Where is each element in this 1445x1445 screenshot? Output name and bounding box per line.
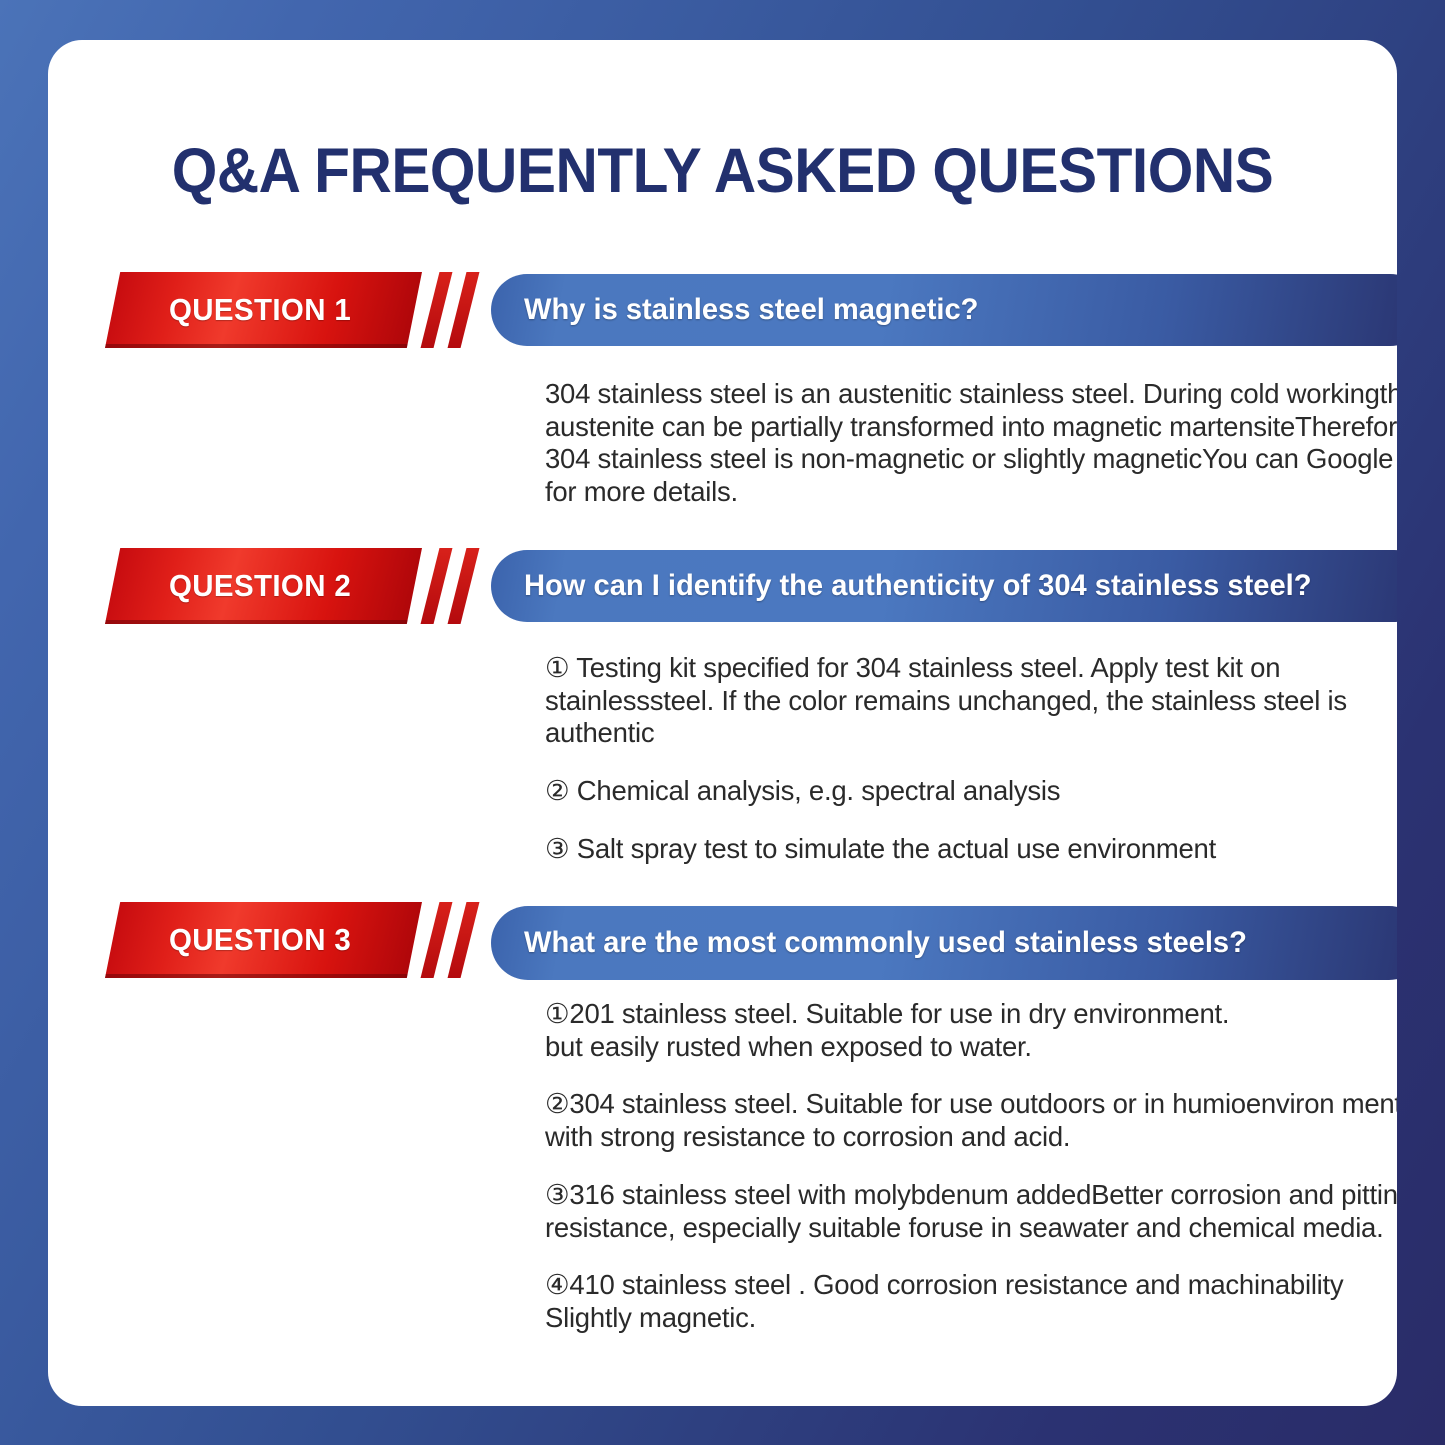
answer-paragraph: ③ Salt spray test to simulate the actual… xyxy=(545,833,1397,866)
faq-banner-3: QUESTION 3 What are the most commonly us… xyxy=(48,898,1397,974)
page-title: Q&A FREQUENTLY ASKED QUESTIONS xyxy=(95,135,1350,207)
answer-paragraph: ① Testing kit specified for 304 stainles… xyxy=(545,652,1397,750)
question-tag-label-2: QUESTION 2 xyxy=(169,568,351,604)
question-text-3: What are the most commonly used stainles… xyxy=(524,926,1247,960)
answer-paragraph: ④410 stainless steel . Good corrosion re… xyxy=(545,1269,1397,1334)
question-tag-3[interactable]: QUESTION 3 xyxy=(105,902,422,978)
faq-banner-1: QUESTION 1 Why is stainless steel magnet… xyxy=(48,272,1397,348)
question-pill-1[interactable]: Why is stainless steel magnetic? xyxy=(491,274,1397,346)
slash-icon-1a xyxy=(421,272,453,348)
question-pill-3[interactable]: What are the most commonly used stainles… xyxy=(491,906,1397,980)
question-tag-2[interactable]: QUESTION 2 xyxy=(105,548,422,624)
question-text-2: How can I identify the authenticity of 3… xyxy=(524,569,1312,603)
question-tag-label-1: QUESTION 1 xyxy=(169,292,351,328)
question-tag-1[interactable]: QUESTION 1 xyxy=(105,272,422,348)
faq-card: Q&A FREQUENTLY ASKED QUESTIONS QUESTION … xyxy=(48,40,1397,1406)
slash-icon-3a xyxy=(421,902,453,978)
slash-icon-1b xyxy=(448,272,480,348)
question-tag-label-3: QUESTION 3 xyxy=(169,922,351,958)
answer-paragraph: ①201 stainless steel. Suitable for use i… xyxy=(545,998,1397,1063)
slash-icon-2b xyxy=(448,548,480,624)
faq-banner-2: QUESTION 2 How can I identify the authen… xyxy=(48,548,1397,624)
answer-1: 304 stainless steel is an austenitic sta… xyxy=(545,378,1397,509)
question-pill-2[interactable]: How can I identify the authenticity of 3… xyxy=(491,550,1397,622)
question-text-1: Why is stainless steel magnetic? xyxy=(524,293,978,327)
answer-paragraph: ② Chemical analysis, e.g. spectral analy… xyxy=(545,775,1397,808)
slash-icon-3b xyxy=(448,902,480,978)
answer-paragraph: ③316 stainless steel with molybdenum add… xyxy=(545,1179,1397,1244)
answer-3: ①201 stainless steel. Suitable for use i… xyxy=(545,998,1397,1335)
answer-paragraph: 304 stainless steel is an austenitic sta… xyxy=(545,378,1397,509)
slash-icon-2a xyxy=(421,548,453,624)
answer-2: ① Testing kit specified for 304 stainles… xyxy=(545,652,1397,866)
answer-paragraph: ②304 stainless steel. Suitable for use o… xyxy=(545,1088,1397,1153)
